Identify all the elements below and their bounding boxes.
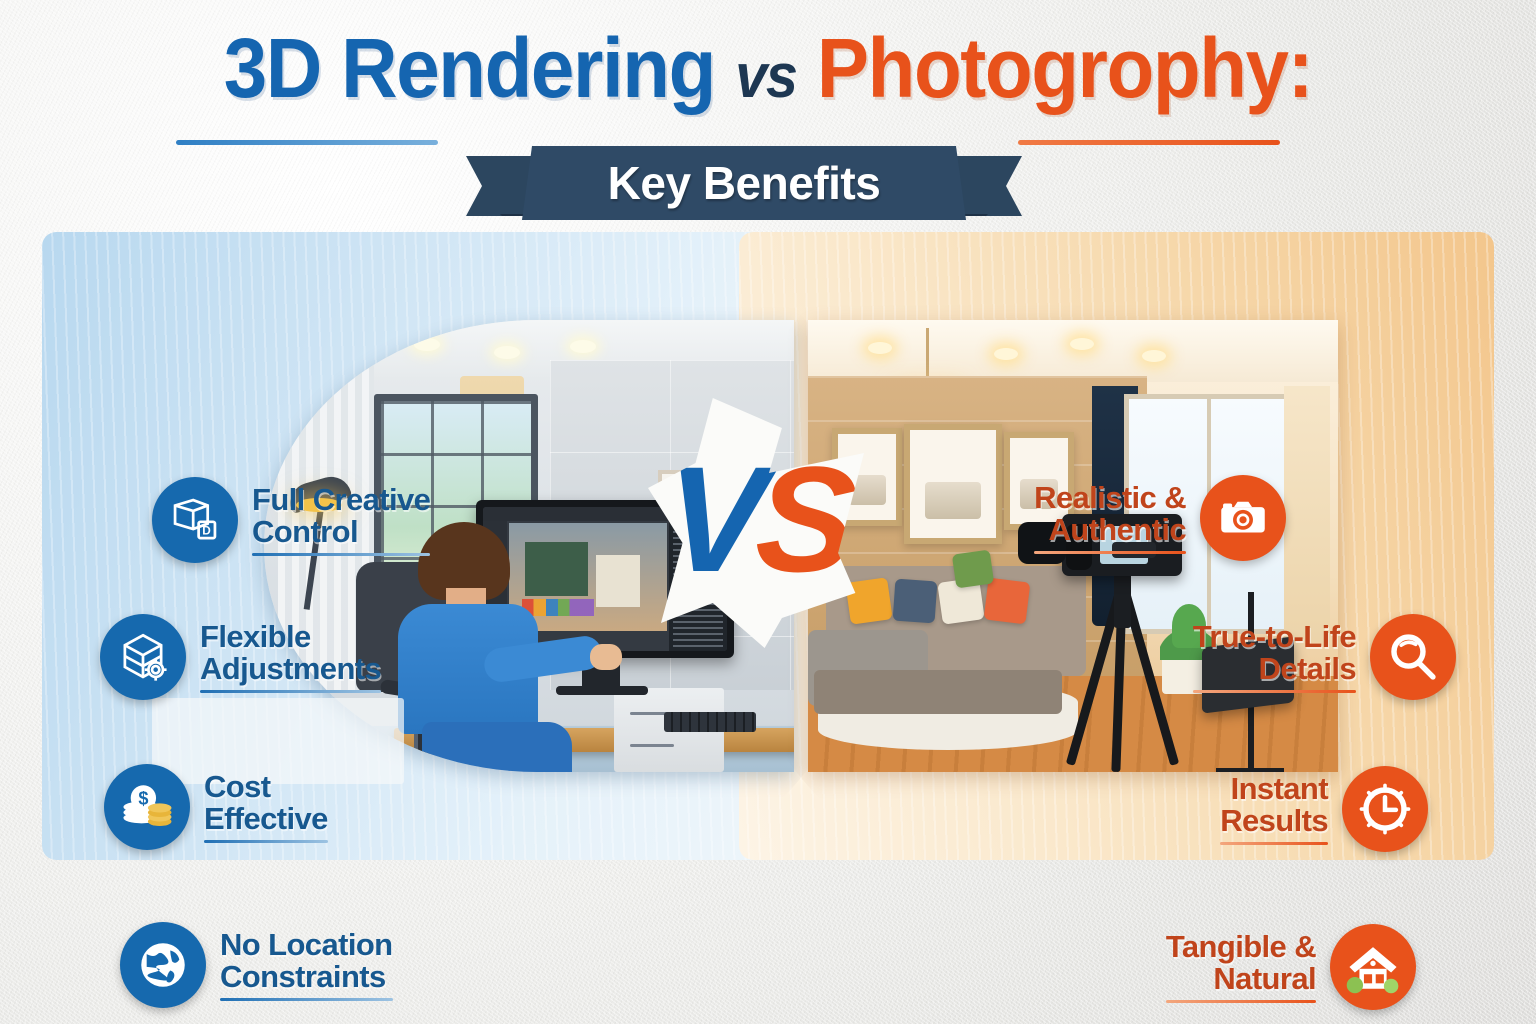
title-part-rendering: 3D Rendering	[224, 21, 715, 115]
globe-icon	[120, 922, 206, 1008]
cube-gear-icon	[100, 614, 186, 700]
benefit-underline	[1034, 551, 1186, 554]
key-benefits-ribbon: Key Benefits	[466, 146, 1022, 224]
benefit-line1: Full Creative	[252, 484, 430, 516]
benefit-underline	[204, 840, 328, 843]
coins-dollar-icon: $	[104, 764, 190, 850]
benefit-line2: Control	[252, 516, 430, 548]
benefit-line1: No Location	[220, 929, 393, 961]
benefit-line1: Flexible	[200, 621, 381, 653]
benefit-line1: Cost	[204, 771, 328, 803]
benefit-underline	[200, 690, 381, 693]
benefit-line2: Details	[1193, 653, 1356, 685]
benefit-underline	[252, 553, 430, 556]
benefit-line2: Results	[1220, 805, 1328, 837]
benefit-line1: Instant	[1220, 773, 1328, 805]
benefit-full-creative-control[interactable]: D Full Creative Control	[152, 477, 430, 563]
benefit-label: Full Creative Control	[252, 484, 430, 555]
benefit-flexible-adjustments[interactable]: Flexible Adjustments	[100, 614, 381, 700]
magnifier-icon	[1370, 614, 1456, 700]
vs-letter-s: S	[753, 444, 848, 594]
benefit-underline	[1166, 1000, 1316, 1003]
benefit-no-location-constraints[interactable]: No Location Constraints	[120, 922, 393, 1008]
benefit-line2: Constraints	[220, 961, 393, 993]
title-vs-word: vs	[735, 42, 796, 111]
svg-text:D: D	[202, 525, 211, 538]
ribbon-body: Key Benefits	[522, 146, 966, 220]
benefit-underline	[1193, 690, 1356, 693]
benefit-underline	[1220, 842, 1328, 845]
benefit-line2: Effective	[204, 803, 328, 835]
benefit-true-to-life-details[interactable]: True-to-Life Details	[1193, 614, 1456, 700]
title-underline-left	[176, 140, 438, 145]
benefit-label: True-to-Life Details	[1193, 621, 1356, 692]
title-underline-right	[1018, 140, 1280, 145]
benefit-label: Instant Results	[1220, 773, 1328, 844]
benefit-label: Tangible & Natural	[1166, 931, 1316, 1002]
benefit-line1: Realistic &	[1034, 482, 1186, 514]
benefit-instant-results[interactable]: Instant Results	[1220, 766, 1428, 852]
benefit-line2: Authentic	[1034, 514, 1186, 546]
ribbon-label: Key Benefits	[608, 156, 881, 210]
benefit-label: Realistic & Authentic	[1034, 482, 1186, 553]
benefit-label: Flexible Adjustments	[200, 621, 381, 692]
benefit-tangible-natural[interactable]: Tangible & Natural	[1166, 924, 1416, 1010]
benefit-cost-effective[interactable]: $ Cost Effective	[104, 764, 328, 850]
benefit-line2: Adjustments	[200, 653, 381, 685]
house-trees-icon	[1330, 924, 1416, 1010]
cube-speech-bubble-3d-icon: D	[152, 477, 238, 563]
svg-text:$: $	[138, 788, 148, 808]
page-title: 3D Rendering vs Photogrophy:	[0, 26, 1536, 110]
benefit-line1: True-to-Life	[1193, 621, 1356, 653]
camera-icon	[1200, 475, 1286, 561]
benefit-realistic-authentic[interactable]: Realistic & Authentic	[1034, 475, 1286, 561]
benefit-underline	[220, 998, 393, 1001]
benefit-label: No Location Constraints	[220, 929, 393, 1000]
benefit-label: Cost Effective	[204, 771, 328, 842]
benefit-line1: Tangible &	[1166, 931, 1316, 963]
title-part-photography: Photogrophy:	[817, 21, 1312, 115]
benefit-line2: Natural	[1166, 963, 1316, 995]
clock-icon	[1342, 766, 1428, 852]
